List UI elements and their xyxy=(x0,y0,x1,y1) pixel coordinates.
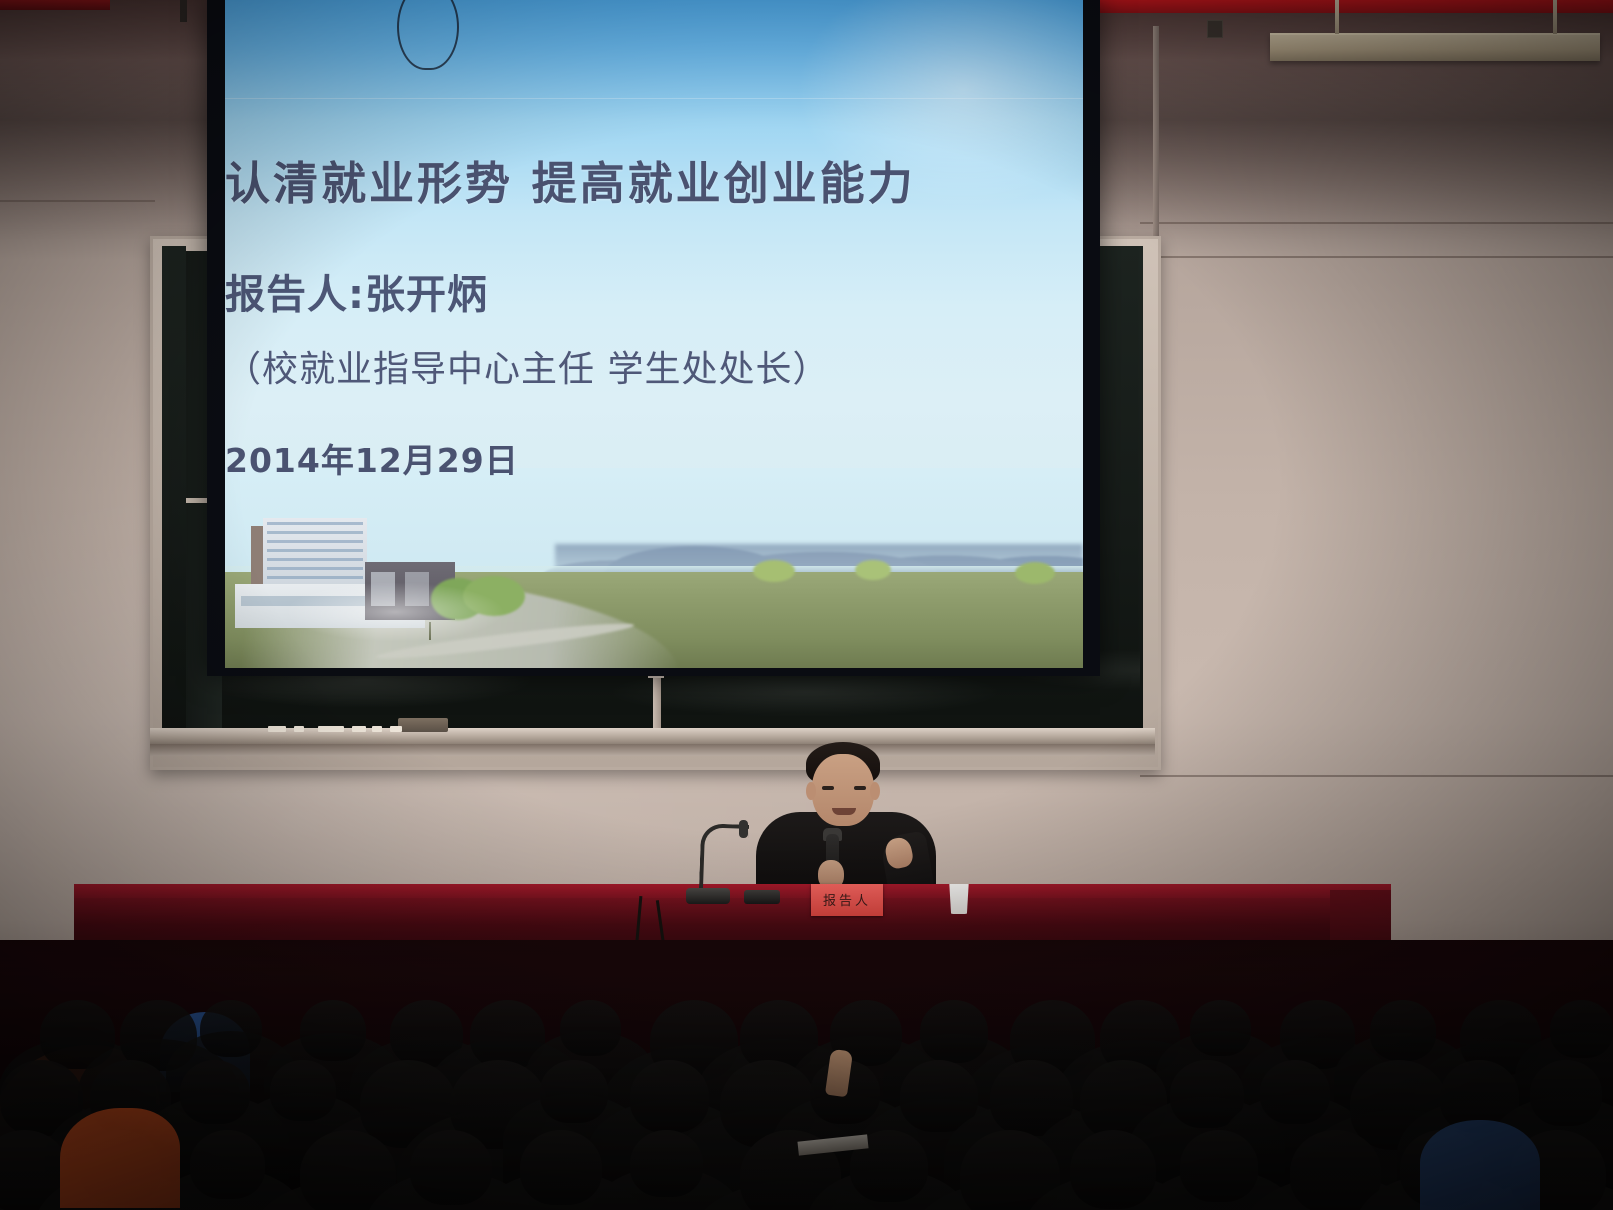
slide-photo-tower-building xyxy=(263,518,367,590)
chalk-piece xyxy=(372,726,382,732)
audience-head xyxy=(630,1060,709,1133)
slide-campus-photo xyxy=(225,468,1083,668)
audience-head xyxy=(270,1060,336,1121)
wall-seam xyxy=(1140,775,1613,777)
wall-seam xyxy=(1140,256,1613,258)
nameplate-label: 报告人 xyxy=(811,890,883,909)
audience-head xyxy=(410,1130,492,1205)
slide-photo-tree xyxy=(1015,562,1055,584)
audience-top-fade xyxy=(0,940,1613,1000)
audience-head xyxy=(540,1060,608,1123)
fluorescent-light-lower xyxy=(1250,57,1613,69)
chalk-piece xyxy=(352,726,366,732)
slide-title: 认清就业形势 提高就业创业能力 xyxy=(225,147,1083,212)
chalk-piece xyxy=(268,726,286,732)
light-suspension-rod xyxy=(1553,0,1557,34)
audience-head xyxy=(200,1000,262,1057)
chalk-tray-shadow xyxy=(150,744,1155,756)
audience-head xyxy=(560,1000,621,1056)
speaker-eye-right xyxy=(854,786,866,790)
wall-seam-left xyxy=(0,200,155,202)
speaker-person xyxy=(756,738,936,890)
speaker-ear-right xyxy=(870,782,880,800)
microphone-base-secondary xyxy=(744,890,780,904)
audience-head xyxy=(180,1060,250,1124)
wall-junction-box xyxy=(1207,20,1223,38)
speaker-mouth xyxy=(832,808,856,815)
slide-light-spill xyxy=(285,582,505,642)
screen-mount-bracket-left xyxy=(180,0,187,22)
screen-surface-seam xyxy=(225,98,1083,99)
audience-head xyxy=(190,1130,265,1199)
audience-orange-jacket xyxy=(60,1108,180,1208)
slide-date-line: 2014年12月29日 xyxy=(225,434,1083,482)
audience-head xyxy=(1550,1000,1613,1058)
audience-head xyxy=(920,1000,988,1063)
blackboard-eraser xyxy=(398,718,448,732)
chalk-piece xyxy=(318,726,344,732)
audience-head xyxy=(300,1000,366,1061)
speaker-eye-left xyxy=(822,786,834,790)
slide-presenter-line: 报告人:张开炳 xyxy=(225,262,1083,320)
audience-head xyxy=(1190,1000,1251,1056)
speaker-head xyxy=(812,754,874,826)
lecture-hall-photo: 认清就业形势 提高就业创业能力 报告人:张开炳 （校就业指导中心主任 学生处处长… xyxy=(0,0,1613,1210)
audience-head xyxy=(1180,1130,1258,1202)
audience-head xyxy=(1070,1130,1156,1209)
paper-cup-icon xyxy=(948,884,970,914)
slide-role-line: （校就业指导中心主任 学生处处长） xyxy=(225,340,1083,392)
microphone-base xyxy=(686,888,730,904)
speaker-ear-left xyxy=(806,782,816,800)
light-suspension-rod xyxy=(1335,0,1339,34)
audience-head xyxy=(1260,1060,1330,1124)
audience-head xyxy=(630,1130,703,1197)
presentation-slide: 认清就业形势 提高就业创业能力 报告人:张开炳 （校就业指导中心主任 学生处处长… xyxy=(225,0,1083,668)
audience-head xyxy=(1370,1000,1436,1061)
audience-head xyxy=(1290,1130,1381,1210)
wall-seam xyxy=(1140,222,1613,224)
microphone-capsule-icon xyxy=(739,820,748,838)
red-banner-strip xyxy=(1090,0,1613,13)
chalk-piece xyxy=(390,726,402,732)
screen-mount-bracket xyxy=(1153,26,1159,246)
audience-head xyxy=(1530,1060,1602,1126)
chalk-piece xyxy=(294,726,304,732)
slide-photo-tree xyxy=(753,560,795,582)
slide-photo-tree xyxy=(855,560,891,580)
red-banner-strip-left xyxy=(0,0,110,10)
audience-blue-jacket xyxy=(1420,1120,1540,1210)
audience-head xyxy=(520,1130,602,1205)
